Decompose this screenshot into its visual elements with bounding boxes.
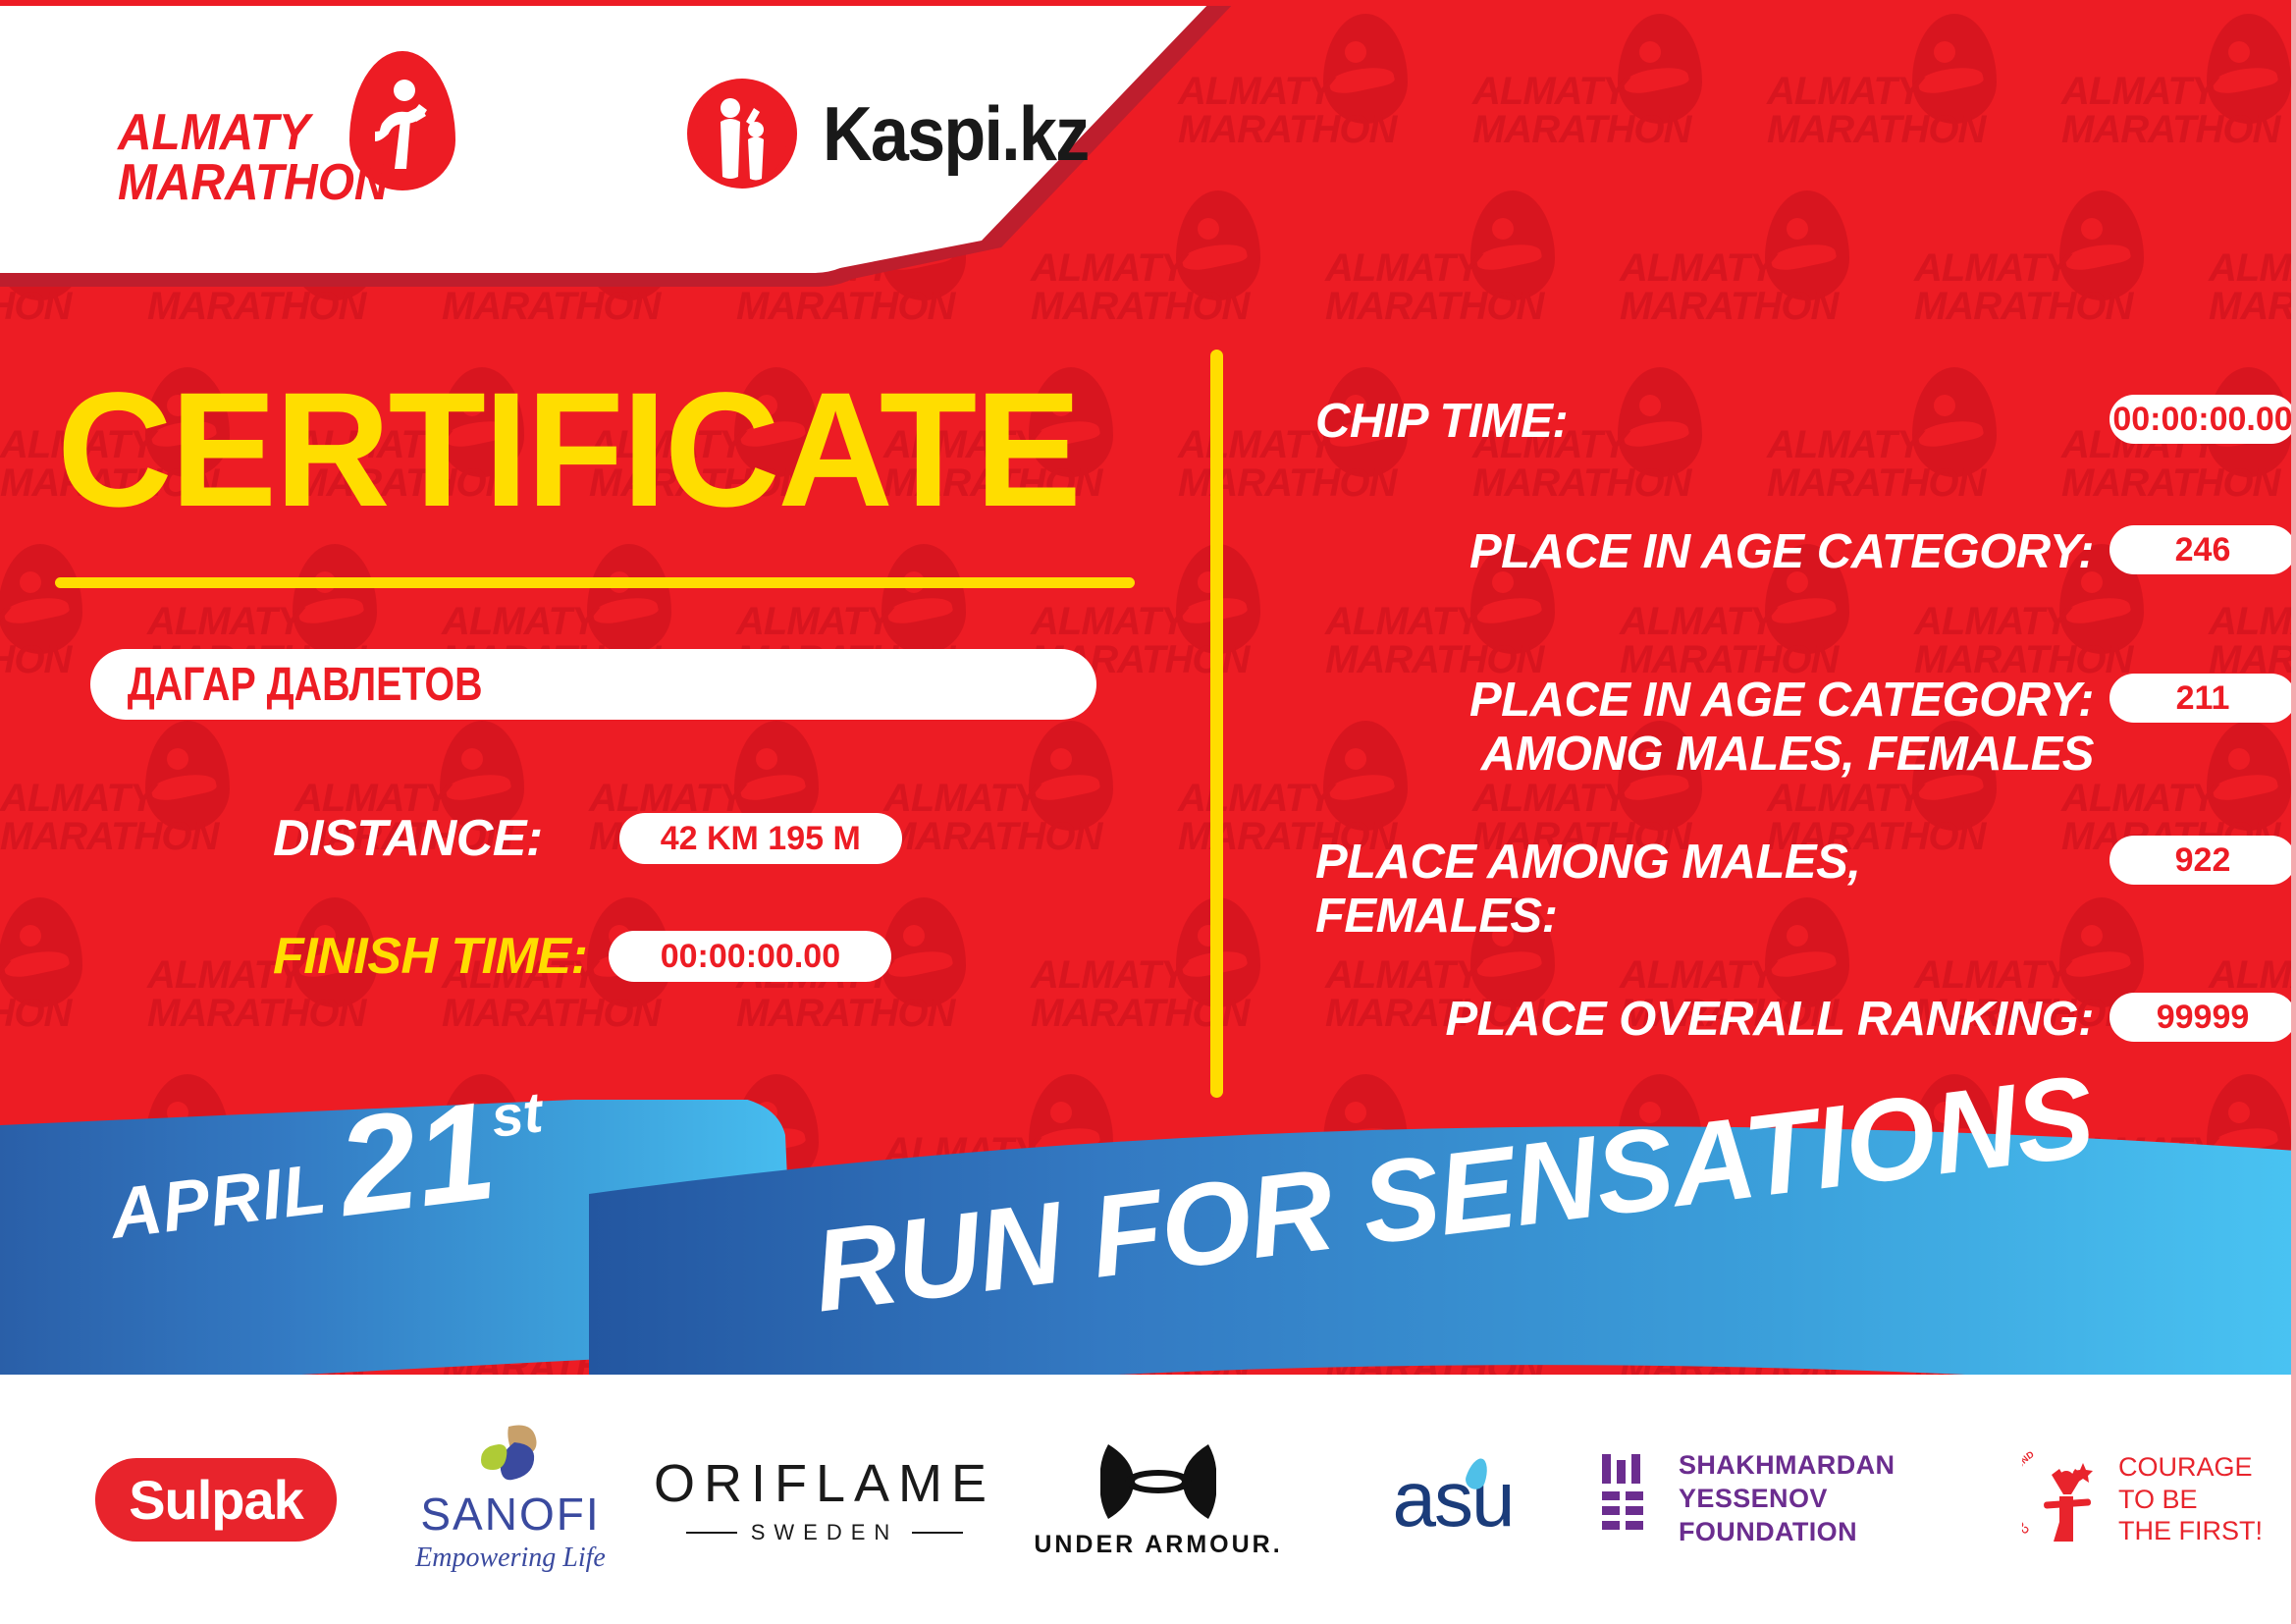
right-edge-hairline <box>2291 0 2296 1624</box>
finish-time-label: FINISH TIME: <box>273 927 587 986</box>
sanofi-wordmark: SANOFI <box>420 1488 600 1541</box>
chip-time-label: CHIP TIME: <box>1223 395 2109 449</box>
place-age-category-gender-label: PLACE IN AGE CATEGORY: AMONG MALES, FEMA… <box>1223 674 2109 782</box>
yessenov-bars-icon <box>1600 1452 1655 1546</box>
courage-line-1: COURAGE <box>2118 1452 2253 1482</box>
chip-time-value[interactable]: 00:00:00.00 <box>2109 395 2296 444</box>
label-line-2: AMONG MALES, FEMALES <box>1481 728 2094 781</box>
athlete-name-field[interactable]: ДАГАР ДАВЛЕТОВ <box>90 649 1096 720</box>
label-line-1: PLACE IN AGE CATEGORY: <box>1469 674 2094 727</box>
yessenov-wordmark: SHAKHMARDAN YESSENOV FOUNDATION <box>1679 1449 1993 1548</box>
under-armour-icon <box>1100 1440 1216 1523</box>
svg-text:CORPORATE FUND: CORPORATE FUND <box>2022 1449 2037 1536</box>
place-age-category-value[interactable]: 246 <box>2109 525 2296 574</box>
chip-time-row: CHIP TIME: 00:00:00.00 <box>1223 395 2296 449</box>
yessenov-line-1: SHAKHMARDAN YESSENOV <box>1679 1450 1895 1513</box>
sponsor-logo-under-armour[interactable]: UNDER ARMOUR. <box>1031 1375 1286 1624</box>
place-overall-label: PLACE OVERALL RANKING: <box>1223 993 2109 1047</box>
place-among-gender-value[interactable]: 922 <box>2109 836 2296 885</box>
place-among-gender-row: PLACE AMONG MALES, FEMALES: 922 <box>1223 836 2296 944</box>
divider-right <box>912 1532 963 1534</box>
distance-label: DISTANCE: <box>273 809 543 868</box>
logo-line-1: ALMATY <box>118 108 388 158</box>
place-overall-value[interactable]: 99999 <box>2109 993 2296 1042</box>
page-title: CERTIFICATE <box>57 369 1080 532</box>
sponsor-logo-sulpak[interactable]: Sulpak <box>69 1375 363 1624</box>
distance-row: DISTANCE: 42 KM 195 M <box>273 809 902 868</box>
sulpak-wordmark: Sulpak <box>95 1458 337 1542</box>
place-age-category-gender-row: PLACE IN AGE CATEGORY: AMONG MALES, FEMA… <box>1223 674 2296 782</box>
label-line-1: PLACE AMONG MALES, <box>1315 836 1860 889</box>
yessenov-line-2: FOUNDATION <box>1679 1517 1857 1546</box>
logo-line-2: MARATHON <box>118 158 388 208</box>
oriflame-wordmark: ORIFLAME <box>654 1453 995 1514</box>
almaty-marathon-logo[interactable]: ALMATY MARATHON <box>118 51 501 208</box>
asu-wordmark: asu <box>1393 1454 1514 1544</box>
event-day-suffix: st <box>488 1084 545 1147</box>
courage-line-3: THE FIRST! <box>2118 1516 2263 1545</box>
finish-time-row: FINISH TIME: 00:00:00.00 <box>273 927 891 986</box>
finish-time-value[interactable]: 00:00:00.00 <box>609 931 891 982</box>
sponsor-logo-asu[interactable]: asu <box>1335 1375 1571 1624</box>
sponsor-logo-oriflame[interactable]: ORIFLAME SWEDEN <box>667 1375 982 1624</box>
place-age-category-row: PLACE IN AGE CATEGORY: 246 <box>1223 525 2296 579</box>
kaspi-people-icon <box>687 79 797 189</box>
sponsor-logo-sanofi[interactable]: SANOFI Empowering Life <box>373 1375 648 1624</box>
place-overall-row: PLACE OVERALL RANKING: 99999 <box>1223 993 2296 1047</box>
place-among-gender-label: PLACE AMONG MALES, FEMALES: <box>1223 836 2109 944</box>
oriflame-country: SWEDEN <box>751 1520 899 1545</box>
label-line-2: FEMALES: <box>1315 890 1557 943</box>
courage-wordmark: COURAGE TO BE THE FIRST! <box>2118 1451 2263 1548</box>
oriflame-sub-row: SWEDEN <box>686 1520 964 1545</box>
sanofi-leaf-icon <box>469 1425 552 1482</box>
vertical-divider <box>1210 350 1223 1098</box>
kaspi-wordmark: Kaspi.kz <box>823 89 1088 179</box>
sanofi-tagline: Empowering Life <box>415 1543 606 1574</box>
top-edge-hairline <box>0 0 2296 6</box>
sponsor-logo-courage-fund[interactable]: CORPORATE FUND COURAGE TO BE THE FIRST! <box>2022 1375 2268 1624</box>
place-age-category-label: PLACE IN AGE CATEGORY: <box>1223 525 2109 579</box>
asu-text: asu <box>1393 1455 1514 1543</box>
courage-line-2: TO BE <box>2118 1485 2198 1514</box>
sponsor-logo-yessenov-foundation[interactable]: SHAKHMARDAN YESSENOV FOUNDATION <box>1600 1375 1993 1624</box>
almaty-marathon-wordmark: ALMATY MARATHON <box>118 108 388 208</box>
place-age-category-gender-value[interactable]: 211 <box>2109 674 2296 723</box>
sponsor-strip: Sulpak SANOFI Empowering Life ORIFLAME <box>0 1375 2296 1624</box>
under-armour-wordmark: UNDER ARMOUR. <box>1034 1531 1282 1559</box>
divider-left <box>686 1532 737 1534</box>
title-underline-rule <box>55 577 1135 588</box>
athlete-name-value: ДАГАР ДАВЛЕТОВ <box>90 658 483 712</box>
courage-runner-icon: CORPORATE FUND <box>2022 1445 2110 1553</box>
kaspi-logo[interactable]: Kaspi.kz <box>687 79 1117 189</box>
certificate-page: ALMATYMARATHONALMATYMARATHONALMATYMARATH… <box>0 0 2296 1624</box>
event-day: 21 <box>333 1091 501 1226</box>
distance-value[interactable]: 42 KM 195 M <box>619 813 902 864</box>
